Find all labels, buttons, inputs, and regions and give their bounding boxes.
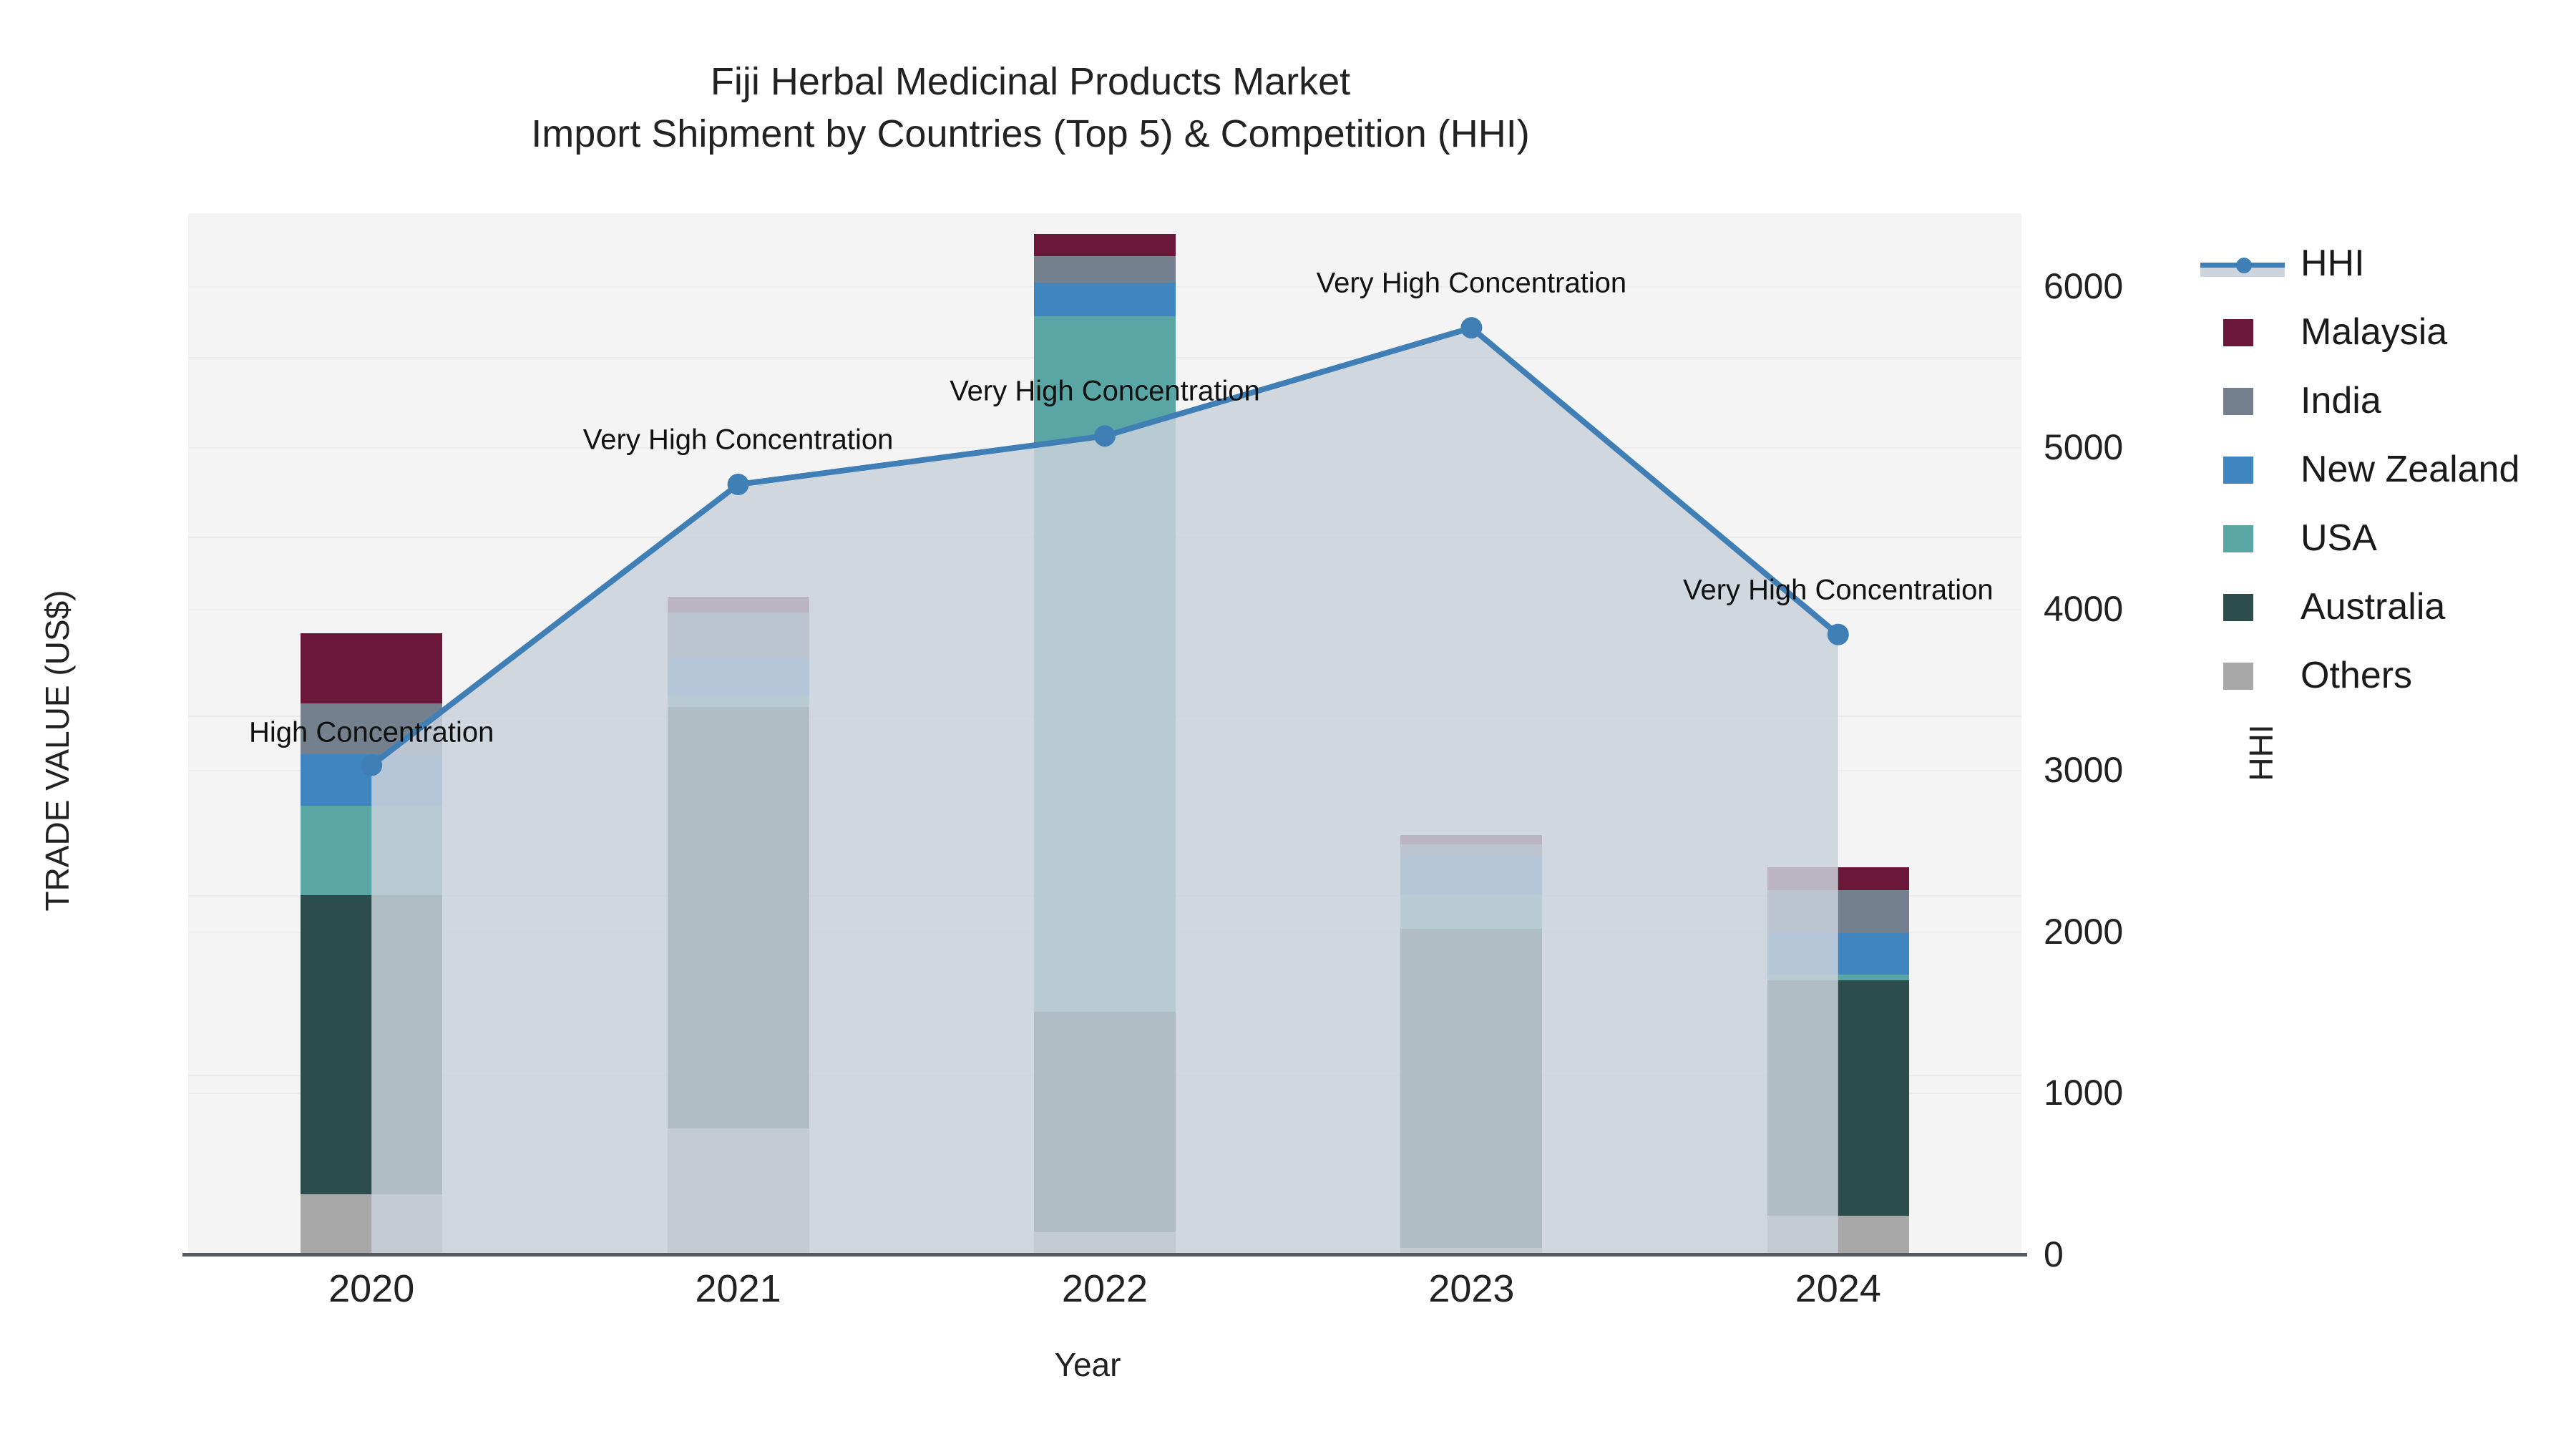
bar-segment[interactable] xyxy=(1400,844,1542,856)
legend-item-malaysia[interactable]: Malaysia xyxy=(2200,298,2572,366)
legend-item-india[interactable]: India xyxy=(2200,366,2572,435)
bar-segment[interactable] xyxy=(1034,256,1176,282)
chart-title: Fiji Herbal Medicinal Products Market Im… xyxy=(0,56,2061,161)
legend-swatch-icon xyxy=(2223,388,2253,415)
legend-item-label: USA xyxy=(2301,519,2377,557)
chart-canvas: Fiji Herbal Medicinal Products Market Im… xyxy=(0,0,2576,1449)
bar-segment[interactable] xyxy=(1034,1012,1176,1231)
bar-segment[interactable] xyxy=(668,696,809,707)
bar-segment[interactable] xyxy=(1767,933,1909,975)
bar-segment[interactable] xyxy=(1767,975,1909,981)
legend-swatch-icon xyxy=(2223,525,2253,552)
bar-segment[interactable] xyxy=(668,707,809,1129)
bar-segment[interactable] xyxy=(1400,835,1542,844)
concentration-annotation: Very High Concentration xyxy=(1317,268,1627,300)
legend-item-label: Malaysia xyxy=(2301,313,2447,351)
concentration-annotation: Very High Concentration xyxy=(1683,574,1994,606)
bar-segment[interactable] xyxy=(301,633,442,703)
legend-item-others[interactable]: Others xyxy=(2200,641,2572,710)
y-axis-right-tick-label: 3000 xyxy=(2044,749,2273,791)
bar-segment[interactable] xyxy=(301,754,442,805)
x-axis-tick-label: 2020 xyxy=(264,1267,479,1311)
chart-title-main: Fiji Herbal Medicinal Products Market xyxy=(0,56,2061,108)
legend-color-swatch xyxy=(2200,453,2285,486)
bar-segment[interactable] xyxy=(1767,867,1909,889)
x-axis-tick-label: 2022 xyxy=(997,1267,1212,1311)
bar-segment[interactable] xyxy=(1034,1232,1176,1254)
legend-item-label: Australia xyxy=(2301,588,2445,625)
legend-item-new-zealand[interactable]: New Zealand xyxy=(2200,435,2572,504)
legend-item-hhi[interactable]: HHI xyxy=(2200,229,2572,298)
bar-stack[interactable] xyxy=(1767,867,1909,1254)
x-axis-tick-label: 2021 xyxy=(631,1267,846,1311)
bar-segment[interactable] xyxy=(1767,1216,1909,1254)
chart-title-subtitle: Import Shipment by Countries (Top 5) & C… xyxy=(0,108,2061,160)
bar-segment[interactable] xyxy=(1400,894,1542,929)
x-axis-tick-label: 2024 xyxy=(1731,1267,1946,1311)
legend-item-label: HHI xyxy=(2301,245,2365,282)
y-axis-right-tick-label: 2000 xyxy=(2044,911,2273,952)
legend-color-swatch xyxy=(2200,590,2285,623)
bar-stack[interactable] xyxy=(1400,835,1542,1254)
bar-segment[interactable] xyxy=(1034,283,1176,317)
concentration-annotation: High Concentration xyxy=(249,717,494,749)
bar-segment[interactable] xyxy=(1034,316,1176,1012)
legend-color-swatch xyxy=(2200,522,2285,555)
legend-swatch-icon xyxy=(2223,457,2253,484)
legend-swatch-icon xyxy=(2223,663,2253,690)
concentration-annotation: Very High Concentration xyxy=(950,376,1260,408)
legend-color-swatch xyxy=(2200,659,2285,692)
y-axis-left-label: TRADE VALUE (US$) xyxy=(38,565,77,937)
x-axis-label: Year xyxy=(916,1345,1259,1384)
bar-segment[interactable] xyxy=(301,806,442,895)
legend-color-swatch xyxy=(2200,384,2285,417)
x-axis-line xyxy=(182,1253,2027,1257)
y-axis-right-tick-label: 0 xyxy=(2044,1234,2273,1275)
legend-item-label: Others xyxy=(2301,657,2412,694)
bar-segment[interactable] xyxy=(668,613,809,658)
bar-segment[interactable] xyxy=(1400,856,1542,894)
chart-legend: HHIMalaysiaIndiaNew ZealandUSAAustraliaO… xyxy=(2200,229,2572,710)
legend-item-australia[interactable]: Australia xyxy=(2200,572,2572,641)
legend-item-label: India xyxy=(2301,382,2381,419)
hhi-line-icon xyxy=(2200,247,2285,280)
legend-item-usa[interactable]: USA xyxy=(2200,504,2572,572)
legend-item-label: New Zealand xyxy=(2301,451,2519,488)
hhi-marker-icon xyxy=(2236,258,2252,273)
bar-segment[interactable] xyxy=(1400,929,1542,1249)
legend-color-swatch xyxy=(2200,316,2285,348)
bar-segment[interactable] xyxy=(668,1128,809,1254)
bar-segment[interactable] xyxy=(301,895,442,1194)
y-axis-right-tick-label: 1000 xyxy=(2044,1072,2273,1113)
bar-segment[interactable] xyxy=(1034,234,1176,256)
bar-segment[interactable] xyxy=(668,658,809,696)
bar-segment[interactable] xyxy=(1767,890,1909,933)
legend-swatch-icon xyxy=(2223,319,2253,346)
legend-swatch-icon xyxy=(2223,594,2253,621)
bar-segment[interactable] xyxy=(668,597,809,613)
bar-segment[interactable] xyxy=(1767,980,1909,1216)
bar-segment[interactable] xyxy=(301,1194,442,1254)
x-axis-tick-label: 2023 xyxy=(1364,1267,1579,1311)
bar-stack[interactable] xyxy=(668,597,809,1254)
concentration-annotation: Very High Concentration xyxy=(583,424,894,456)
